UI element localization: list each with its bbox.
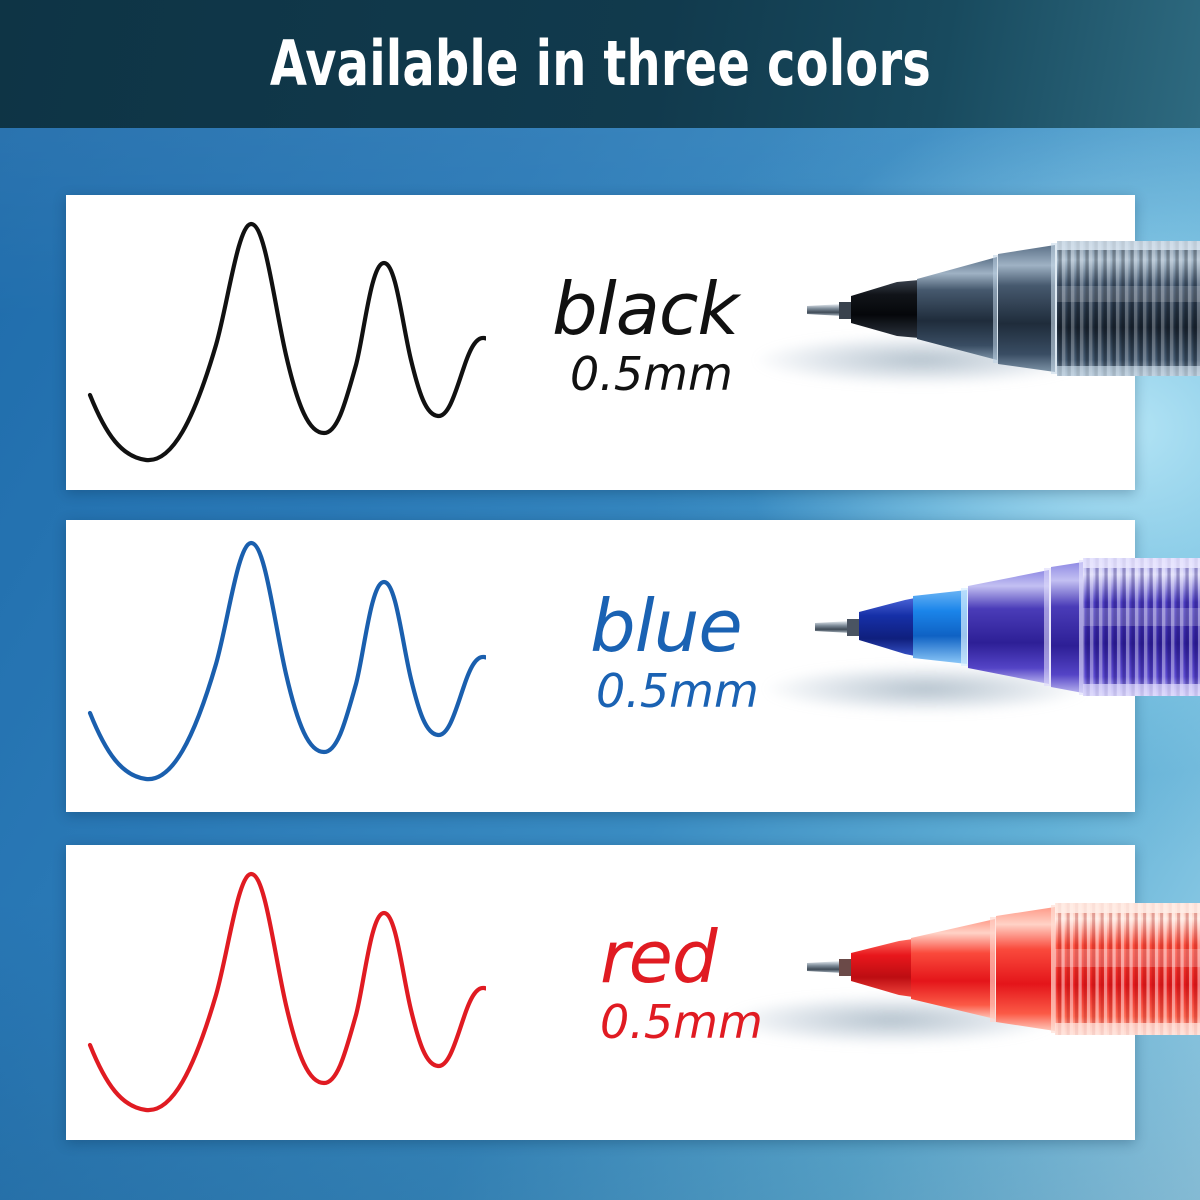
ink-stroke-wave-blue (66, 520, 486, 812)
color-card-blue[interactable]: blue 0.5mm (66, 520, 1135, 812)
label-block-blue: blue 0.5mm (590, 592, 759, 714)
pen-shadow-blue (766, 665, 1086, 713)
infographic-root: Available in three colors black 0.5mm (0, 0, 1200, 1200)
header-banner: Available in three colors (0, 0, 1200, 128)
color-name-blue: blue (590, 592, 759, 660)
label-block-black: black 0.5mm (552, 275, 738, 397)
color-name-black: black (552, 275, 738, 343)
pen-shadow-red (726, 995, 1056, 1045)
page-title: Available in three colors (0, 33, 1200, 95)
color-card-black[interactable]: black 0.5mm (66, 195, 1135, 490)
label-block-red: red 0.5mm (600, 923, 763, 1045)
tip-size-blue: 0.5mm (596, 668, 759, 714)
tip-size-black: 0.5mm (570, 351, 738, 397)
color-name-red: red (600, 923, 763, 991)
ink-stroke-wave-red (66, 845, 486, 1140)
pen-shadow-black (756, 335, 1086, 385)
tip-size-red: 0.5mm (600, 999, 763, 1045)
page-title-text: Available in three colors (269, 33, 930, 95)
color-card-red[interactable]: red 0.5mm (66, 845, 1135, 1140)
ink-stroke-wave-black (66, 195, 486, 490)
